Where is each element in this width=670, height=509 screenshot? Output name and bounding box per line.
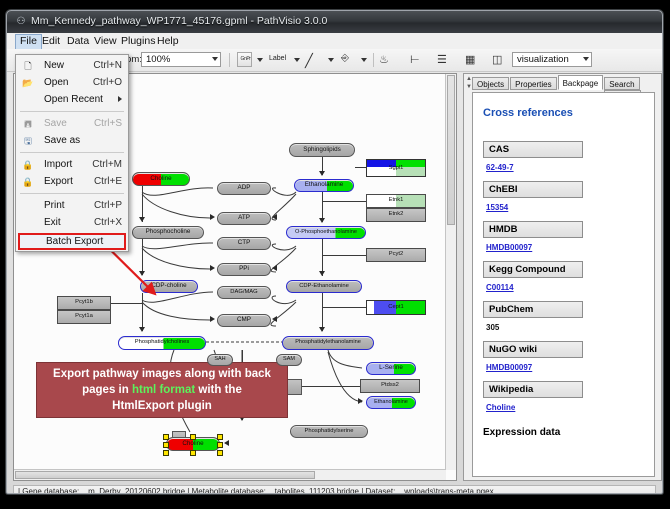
arrow-icon [272, 265, 277, 271]
cross-references-heading: Cross references [483, 107, 573, 119]
xref-value-wikipedia[interactable]: Choline [486, 403, 515, 412]
panel-tabs: Objects Properties Backpage Search Legen… [472, 77, 661, 91]
scrollbar-thumb[interactable] [447, 75, 455, 225]
callout-line-2a: pages in [82, 384, 132, 396]
expression-data-heading: Expression data [483, 427, 560, 438]
annotation-callout: Export pathway images along with back pa… [36, 362, 288, 418]
chevron-down-icon [583, 57, 589, 61]
node-phosphatidylserine[interactable]: Phosphatidylserine [290, 425, 368, 438]
import-icon: 🔒 [22, 159, 34, 171]
label-dropdown-label[interactable]: Label [269, 55, 286, 62]
gene-etnk1[interactable]: Etnk1 [366, 194, 426, 208]
visualization-value: visualization [517, 54, 569, 65]
menu-separator [20, 111, 124, 112]
xref-label-hmdb: HMDB [483, 221, 583, 238]
menu-item-open[interactable]: 📂 Open Ctrl+O [16, 74, 128, 91]
arrow-icon [319, 218, 325, 223]
arrow-icon [319, 171, 325, 176]
interaction-shape-icon[interactable]: ⎆ [341, 53, 349, 64]
align-center-icon[interactable]: ☰ [437, 53, 447, 66]
gene-sgpl1[interactable]: Sgpl1 [366, 159, 426, 177]
file-menu-dropdown[interactable]: 🗋 New Ctrl+N 📂 Open Ctrl+O Open Recent 🖪… [15, 54, 129, 252]
node-phosphocholine[interactable]: Phosphocholine [132, 226, 204, 239]
arrow-icon [210, 214, 215, 220]
xref-label-wikipedia: Wikipedia [483, 381, 583, 398]
menu-item-open-recent[interactable]: Open Recent [16, 91, 128, 108]
node-l-serine[interactable]: L-Serine [366, 362, 416, 375]
anchor-icon[interactable]: ♨ [379, 53, 389, 66]
node-sphingolipids[interactable]: Sphingolipids [289, 143, 355, 157]
xref-label-chebi: ChEBI [483, 181, 583, 198]
tab-backpage[interactable]: Backpage [558, 75, 604, 90]
gene-label: Etnk1 [367, 195, 425, 207]
interaction-anchor[interactable] [286, 379, 302, 395]
node-cdp-ethanolamine[interactable]: CDP-Ethanolamine [286, 280, 362, 293]
backpage-content: Cross references CAS 62-49-7 ChEBI 15354… [472, 92, 655, 477]
pathvisio-icon: ⚇ [15, 16, 27, 28]
callout-highlight: html format [132, 384, 195, 396]
gene-label: Sgpl1 [367, 162, 425, 176]
arrow-icon [210, 316, 215, 322]
menu-item-save: 🖪 Save Ctrl+S [16, 115, 128, 132]
arrow-icon [358, 398, 363, 404]
menu-bar: File Edit Data View Plugins Help [7, 33, 662, 50]
xref-value-pubchem: 305 [486, 323, 499, 332]
distribute-icon[interactable]: ◫ [492, 53, 502, 66]
xref-value-chebi[interactable]: 15354 [486, 203, 508, 212]
node-ctp[interactable]: CTP [217, 237, 271, 250]
export-icon: 🔒 [22, 176, 34, 188]
node-choline-top[interactable]: Choline [132, 172, 190, 186]
node-cmp[interactable]: CMP [217, 314, 271, 327]
arrow-icon [210, 265, 215, 271]
node-sah[interactable]: SAH [207, 354, 233, 366]
gene-pcyt1a[interactable]: Pcyt1a [57, 310, 111, 324]
chevron-down-icon[interactable] [361, 58, 367, 62]
gene-cept1[interactable]: Cept1 [366, 300, 426, 315]
canvas-scrollbar-vertical[interactable] [445, 74, 456, 470]
tab-objects[interactable]: Objects [472, 77, 509, 90]
side-panel: ▲ ▼ Objects Properties Backpage Search L… [463, 73, 662, 481]
connector [355, 167, 366, 168]
align-left-icon[interactable]: ⊢ [410, 53, 420, 66]
status-bar: | Gene database: ...m_Derby_20120602.bri… [13, 485, 656, 494]
save-as-icon: 🖫 [22, 135, 34, 147]
gene-ptdss2[interactable]: Ptdss2 [360, 379, 420, 393]
node-ethanolamine-1[interactable]: Ethanolamine [294, 179, 354, 192]
chevron-down-icon[interactable] [257, 58, 263, 62]
window-frame: ⚇ Mm_Kennedy_pathway_WP1771_45176.gpml -… [6, 10, 663, 494]
toolbar-separator [229, 53, 230, 67]
menu-item-batch-export-slot[interactable]: Batch Export [16, 233, 128, 249]
connector [111, 303, 142, 304]
xref-label-cas: CAS [483, 141, 583, 158]
menu-item-save-as[interactable]: 🖫 Save as [16, 132, 128, 149]
chevron-down-icon [212, 57, 218, 61]
toolbar-separator [373, 53, 374, 67]
line-tool-icon[interactable]: ╱ [305, 53, 313, 69]
geneproduct-icon: GnPr [239, 56, 252, 62]
menu-item-import[interactable]: 🔒 Import Ctrl+M [16, 156, 128, 173]
save-icon: 🖪 [22, 118, 34, 130]
arrow-icon [272, 214, 277, 220]
new-document-icon: 🗋 [22, 60, 34, 72]
node-adp[interactable]: ADP [217, 182, 271, 195]
arrow-icon [319, 327, 325, 332]
connector [322, 255, 366, 256]
title-bar: ⚇ Mm_Kennedy_pathway_WP1771_45176.gpml -… [7, 11, 662, 34]
menu-item-batch-export[interactable]: Batch Export [18, 233, 126, 250]
arrow-icon [319, 271, 325, 276]
gene-pcyt1b[interactable]: Pcyt1b [57, 296, 111, 310]
menu-help[interactable]: Help [153, 34, 183, 48]
node-ethanolamine-2[interactable]: Ethanolamine [366, 396, 416, 409]
callout-line-1: Export pathway images along with back [53, 368, 271, 380]
callout-line-2b: with the [195, 384, 242, 396]
xref-value-kegg[interactable]: C00114 [486, 283, 514, 292]
tab-search[interactable]: Search [604, 77, 639, 90]
submenu-arrow-icon [118, 96, 122, 102]
xref-value-nugo[interactable]: HMDB00097 [486, 363, 532, 372]
datanode-button[interactable]: GnPr [237, 52, 252, 67]
chevron-down-icon[interactable] [294, 58, 300, 62]
arrow-icon [224, 440, 229, 446]
zoom-value: 100% [146, 54, 170, 65]
chevron-down-icon[interactable] [328, 58, 334, 62]
menu-data[interactable]: Data [63, 34, 93, 48]
xref-value-hmdb[interactable]: HMDB00097 [486, 243, 532, 252]
menu-separator [20, 152, 124, 153]
menu-edit[interactable]: Edit [38, 34, 64, 48]
open-folder-icon: 📂 [22, 77, 34, 89]
scrollbar-thumb[interactable] [15, 471, 315, 479]
xref-label-kegg: Kegg Compound [483, 261, 583, 278]
node-cdp-choline[interactable]: CDP-choline [140, 280, 198, 293]
visualization-combo[interactable]: visualization [512, 52, 592, 67]
menu-item-print[interactable]: Print Ctrl+P [16, 197, 128, 214]
connector [322, 293, 323, 331]
gene-label: Cept1 [367, 301, 425, 314]
menu-item-exit[interactable]: Exit Ctrl+X [16, 214, 128, 231]
stack-icon[interactable]: ▦ [465, 53, 475, 66]
node-ppi[interactable]: PPi [217, 263, 271, 276]
node-o-phosphoethanolamine[interactable]: O-Phosphoethanolamine [286, 226, 366, 239]
node-atp[interactable]: ATP [217, 212, 271, 225]
tab-properties[interactable]: Properties [510, 77, 556, 90]
connector [322, 307, 366, 308]
window-title: Mm_Kennedy_pathway_WP1771_45176.gpml - P… [31, 15, 327, 27]
zoom-combo[interactable]: 100% [141, 52, 221, 67]
app-window: ⚇ Mm_Kennedy_pathway_WP1771_45176.gpml -… [0, 0, 670, 509]
menu-item-export[interactable]: 🔒 Export Ctrl+E [16, 173, 128, 190]
gene-pcyt2[interactable]: Pcyt2 [366, 248, 426, 262]
menu-separator [20, 193, 124, 194]
node-phosphatidylcholines[interactable]: Phosphatidylcholines [118, 336, 206, 350]
xref-value-cas[interactable]: 62-49-7 [486, 163, 514, 172]
node-phosphatidylethanolamine[interactable]: Phosphatidylethanolamine [282, 336, 374, 350]
canvas-scrollbar-horizontal[interactable] [14, 469, 446, 480]
gene-etnk2[interactable]: Etnk2 [366, 208, 426, 222]
arrow-icon [272, 316, 277, 322]
connector [322, 201, 366, 202]
node-sam[interactable]: SAM [276, 354, 302, 366]
callout-line-3: HtmlExport plugin [112, 400, 212, 412]
xref-label-nugo: NuGO wiki [483, 341, 583, 358]
menu-view[interactable]: View [90, 34, 121, 48]
menu-item-new[interactable]: 🗋 New Ctrl+N [16, 57, 128, 74]
xref-label-pubchem: PubChem [483, 301, 583, 318]
node-dag-mag[interactable]: DAG/MAG [217, 286, 271, 299]
